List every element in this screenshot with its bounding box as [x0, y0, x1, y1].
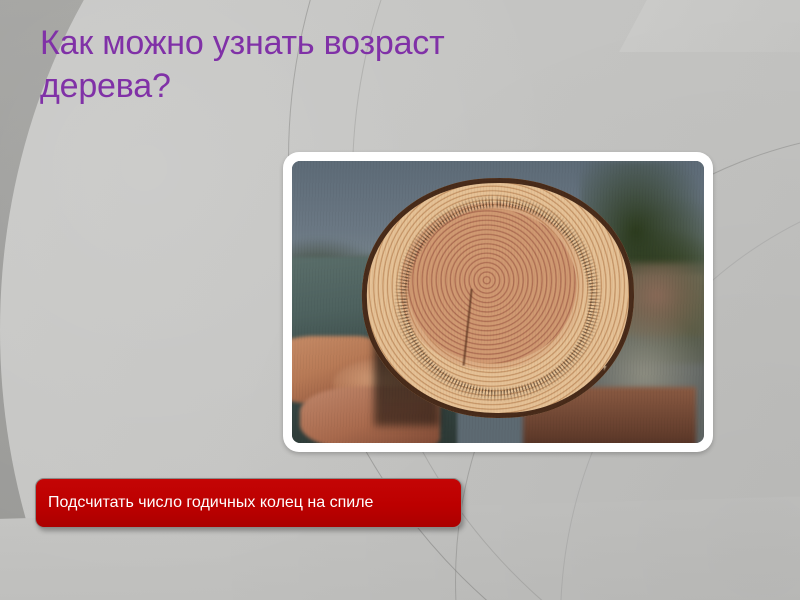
photo-tree-stump — [358, 173, 638, 422]
answer-callout-box: Подсчитать число годичных колец на спиле — [35, 478, 462, 528]
slide-title: Как можно узнать возраст дерева? — [40, 22, 605, 108]
photo-wood-splinters — [604, 366, 646, 392]
presentation-slide: Как можно узнать возраст дерева? — [0, 0, 800, 600]
tree-cross-section-photo — [292, 161, 704, 443]
photo-frame — [283, 152, 713, 452]
answer-callout-text: Подсчитать число годичных колец на спиле — [48, 493, 373, 512]
